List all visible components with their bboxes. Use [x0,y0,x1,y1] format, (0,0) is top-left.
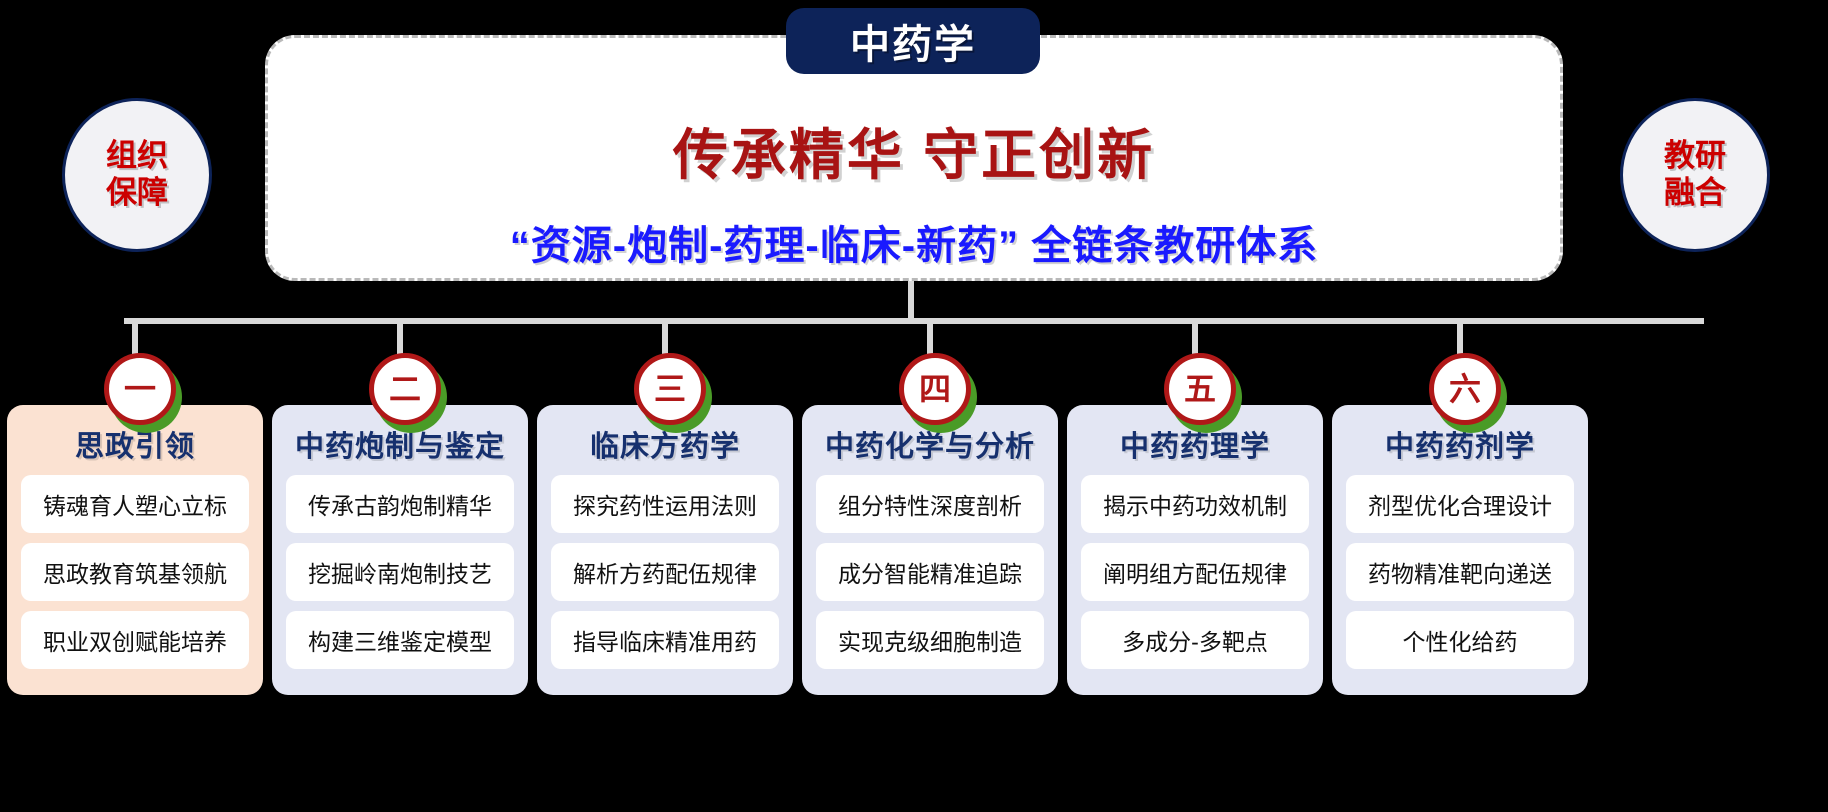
number-circle-label: 六 [1449,373,1481,405]
column-item[interactable]: 构建三维鉴定模型 [286,611,514,669]
column-title: 中药化学与分析 [825,423,1035,465]
tree-rail [124,318,1704,324]
column-item[interactable]: 职业双创赋能培养 [21,611,249,669]
number-circle-label: 三 [654,373,686,405]
column-item[interactable]: 药物精准靶向递送 [1346,543,1574,601]
side-badge-integration-line1: 教研 [1664,138,1726,175]
number-circle-3: 三 [634,353,706,425]
side-badge-organization: 组织 保障 [62,98,212,252]
column-item[interactable]: 思政教育筑基领航 [21,543,249,601]
column-item[interactable]: 挖掘岭南炮制技艺 [286,543,514,601]
side-badge-integration: 教研 融合 [1620,98,1770,252]
column-item[interactable]: 揭示中药功效机制 [1081,475,1309,533]
column-title: 临床方药学 [590,423,740,465]
number-circle-label: 二 [389,373,421,405]
main-title-text: 中药学 [850,12,976,70]
column-card-3[interactable]: 临床方药学探究药性运用法则解析方药配伍规律指导临床精准用药 [537,405,793,695]
column-title: 中药药剂学 [1385,423,1535,465]
side-badge-integration-line2: 融合 [1664,175,1726,212]
column-item[interactable]: 探究药性运用法则 [551,475,779,533]
number-circle-label: 四 [919,373,951,405]
side-badge-organization-line2: 保障 [106,175,168,212]
hero-subtitle: “资源-炮制-药理-临床-新药” 全链条教研体系 [268,213,1560,271]
column-item[interactable]: 传承古韵炮制精华 [286,475,514,533]
tree-trunk [908,275,914,320]
column-card-6[interactable]: 中药药剂学剂型优化合理设计药物精准靶向递送个性化给药 [1332,405,1588,695]
number-circle-label: 五 [1184,373,1216,405]
column-item[interactable]: 解析方药配伍规律 [551,543,779,601]
diagram-canvas: 中药学 传承精华 守正创新 “资源-炮制-药理-临床-新药” 全链条教研体系 组… [0,0,1828,812]
column-title: 中药炮制与鉴定 [295,423,505,465]
number-circle-1: 一 [104,353,176,425]
column-item[interactable]: 实现克级细胞制造 [816,611,1044,669]
number-circle-label: 一 [124,373,156,405]
column-item[interactable]: 指导临床精准用药 [551,611,779,669]
column-title: 中药药理学 [1120,423,1270,465]
column-item[interactable]: 成分智能精准追踪 [816,543,1044,601]
column-item[interactable]: 多成分-多靶点 [1081,611,1309,669]
hero-slogan: 传承精华 守正创新 [268,110,1560,190]
column-card-1[interactable]: 思政引领铸魂育人塑心立标思政教育筑基领航职业双创赋能培养 [7,405,263,695]
column-card-2[interactable]: 中药炮制与鉴定传承古韵炮制精华挖掘岭南炮制技艺构建三维鉴定模型 [272,405,528,695]
number-circle-5: 五 [1164,353,1236,425]
number-circle-4: 四 [899,353,971,425]
number-circle-6: 六 [1429,353,1501,425]
column-item[interactable]: 组分特性深度剖析 [816,475,1044,533]
column-card-4[interactable]: 中药化学与分析组分特性深度剖析成分智能精准追踪实现克级细胞制造 [802,405,1058,695]
column-item[interactable]: 剂型优化合理设计 [1346,475,1574,533]
column-item[interactable]: 阐明组方配伍规律 [1081,543,1309,601]
number-circle-2: 二 [369,353,441,425]
column-title: 思政引领 [75,423,195,465]
column-item[interactable]: 铸魂育人塑心立标 [21,475,249,533]
side-badge-organization-line1: 组织 [106,138,168,175]
column-card-5[interactable]: 中药药理学揭示中药功效机制阐明组方配伍规律多成分-多靶点 [1067,405,1323,695]
main-title-badge: 中药学 [786,8,1040,74]
column-item[interactable]: 个性化给药 [1346,611,1574,669]
